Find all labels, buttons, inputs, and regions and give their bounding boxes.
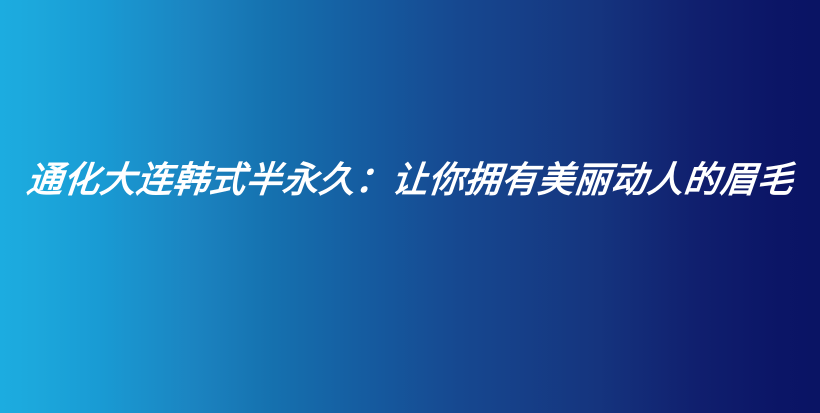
banner-headline: 通化大连韩式半永久：让你拥有美丽动人的眉毛 <box>25 161 795 199</box>
promo-banner: 通化大连韩式半永久：让你拥有美丽动人的眉毛 <box>0 0 820 413</box>
banner-content-area: 通化大连韩式半永久：让你拥有美丽动人的眉毛 <box>0 0 820 413</box>
